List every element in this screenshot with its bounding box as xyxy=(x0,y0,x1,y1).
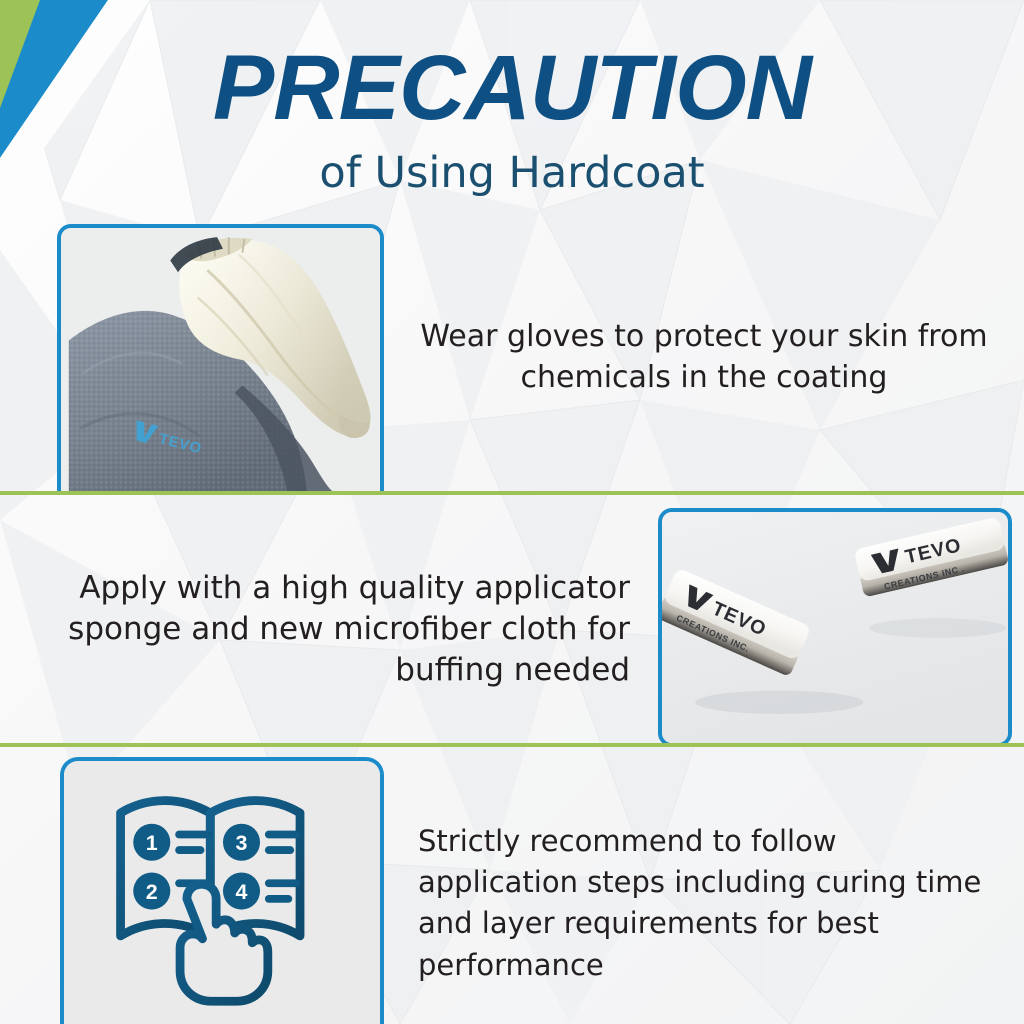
section-3-text: Strictly recommend to follow application… xyxy=(418,821,998,986)
svg-text:2: 2 xyxy=(146,880,158,904)
applicator-photo-panel: TEVO CREATIONS INC . TEVO CREATIONS INC. xyxy=(658,508,1012,747)
section-divider-1 xyxy=(0,491,1024,495)
svg-text:4: 4 xyxy=(236,880,248,904)
svg-text:1: 1 xyxy=(146,831,158,855)
gloves-photo: TEVO xyxy=(61,228,380,491)
svg-text:3: 3 xyxy=(236,831,248,855)
header: PRECAUTION of Using Hardcoat xyxy=(0,0,1024,212)
section-1-text: Wear gloves to protect your skin from ch… xyxy=(416,316,992,399)
section-divider-2 xyxy=(0,743,1024,747)
gloves-photo-panel: TEVO xyxy=(57,224,384,495)
instruction-book-icon: 1 2 3 4 xyxy=(64,761,380,1024)
instructions-icon-panel: 1 2 3 4 xyxy=(60,757,384,1024)
applicator-sponge-photo: TEVO CREATIONS INC . TEVO CREATIONS INC. xyxy=(662,512,1008,743)
section-2-text: Apply with a high quality applicator spo… xyxy=(26,568,630,691)
precaution-infographic: PRECAUTION of Using Hardcoat xyxy=(0,0,1024,1024)
page-subtitle: of Using Hardcoat xyxy=(0,152,1024,195)
page-title: PRECAUTION xyxy=(0,42,1024,134)
